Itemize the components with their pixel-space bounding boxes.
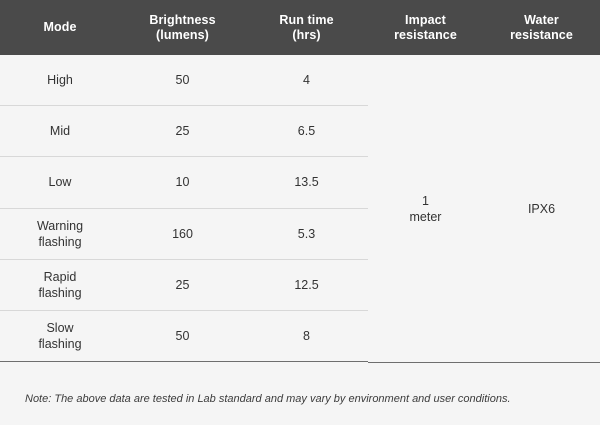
column-header-water-resistance: Water resistance bbox=[483, 13, 600, 43]
merged-resistance-cells: 1 meter IPX6 bbox=[368, 55, 600, 363]
cell-runtime: 4 bbox=[245, 72, 368, 88]
cell-mode: Slow flashing bbox=[0, 320, 120, 352]
cell-runtime: 6.5 bbox=[245, 123, 368, 139]
column-header-runtime-line2: (hrs) bbox=[245, 28, 368, 43]
column-header-brightness-line2: (lumens) bbox=[120, 28, 245, 43]
cell-brightness: 25 bbox=[120, 123, 245, 139]
table-row: Rapid flashing 25 12.5 bbox=[0, 260, 368, 311]
cell-mode: High bbox=[0, 72, 120, 88]
cell-runtime: 13.5 bbox=[245, 174, 368, 190]
cell-runtime: 12.5 bbox=[245, 277, 368, 293]
cell-brightness: 50 bbox=[120, 328, 245, 344]
cell-mode-line1: Warning bbox=[0, 218, 120, 234]
cell-runtime: 8 bbox=[245, 328, 368, 344]
cell-mode-line1: Mid bbox=[0, 123, 120, 139]
cell-impact-line2: meter bbox=[368, 209, 483, 225]
cell-brightness: 25 bbox=[120, 277, 245, 293]
cell-mode-line1: Low bbox=[0, 174, 120, 190]
column-header-water-line1: Water bbox=[483, 13, 600, 28]
cell-mode: Low bbox=[0, 174, 120, 190]
column-header-brightness-line1: Brightness bbox=[120, 13, 245, 28]
cell-mode: Warning flashing bbox=[0, 218, 120, 250]
cell-mode: Rapid flashing bbox=[0, 269, 120, 301]
specification-table: Mode Brightness (lumens) Run time (hrs) … bbox=[0, 0, 600, 425]
table-row: Slow flashing 50 8 bbox=[0, 311, 368, 362]
table-footnote: Note: The above data are tested in Lab s… bbox=[25, 392, 575, 406]
column-header-impact-line2: resistance bbox=[368, 28, 483, 43]
table-row: High 50 4 bbox=[0, 55, 368, 106]
column-header-impact-resistance: Impact resistance bbox=[368, 13, 483, 43]
column-header-impact-line1: Impact bbox=[368, 13, 483, 28]
cell-mode-line1: High bbox=[0, 72, 120, 88]
column-header-runtime-line1: Run time bbox=[245, 13, 368, 28]
table-row: Warning flashing 160 5.3 bbox=[0, 209, 368, 260]
cell-impact-resistance: 1 meter bbox=[368, 193, 483, 225]
table-header-row: Mode Brightness (lumens) Run time (hrs) … bbox=[0, 0, 600, 55]
cell-water-line1: IPX6 bbox=[483, 201, 600, 217]
column-header-runtime: Run time (hrs) bbox=[245, 13, 368, 43]
cell-mode-line1: Rapid bbox=[0, 269, 120, 285]
cell-mode-line2: flashing bbox=[0, 336, 120, 352]
table-row: Low 10 13.5 bbox=[0, 157, 368, 208]
table-row: Mid 25 6.5 bbox=[0, 106, 368, 157]
cell-mode-line2: flashing bbox=[0, 234, 120, 250]
cell-brightness: 10 bbox=[120, 174, 245, 190]
cell-runtime: 5.3 bbox=[245, 226, 368, 242]
cell-brightness: 50 bbox=[120, 72, 245, 88]
column-header-brightness: Brightness (lumens) bbox=[120, 13, 245, 43]
cell-brightness: 160 bbox=[120, 226, 245, 242]
column-header-water-line2: resistance bbox=[483, 28, 600, 43]
cell-water-resistance: IPX6 bbox=[483, 201, 600, 217]
cell-impact-line1: 1 bbox=[368, 193, 483, 209]
cell-mode: Mid bbox=[0, 123, 120, 139]
column-header-mode: Mode bbox=[0, 20, 120, 35]
cell-mode-line1: Slow bbox=[0, 320, 120, 336]
cell-mode-line2: flashing bbox=[0, 285, 120, 301]
table-body: High 50 4 Mid 25 6.5 Low 10 13.5 Warning… bbox=[0, 55, 368, 362]
column-header-mode-line1: Mode bbox=[0, 20, 120, 35]
